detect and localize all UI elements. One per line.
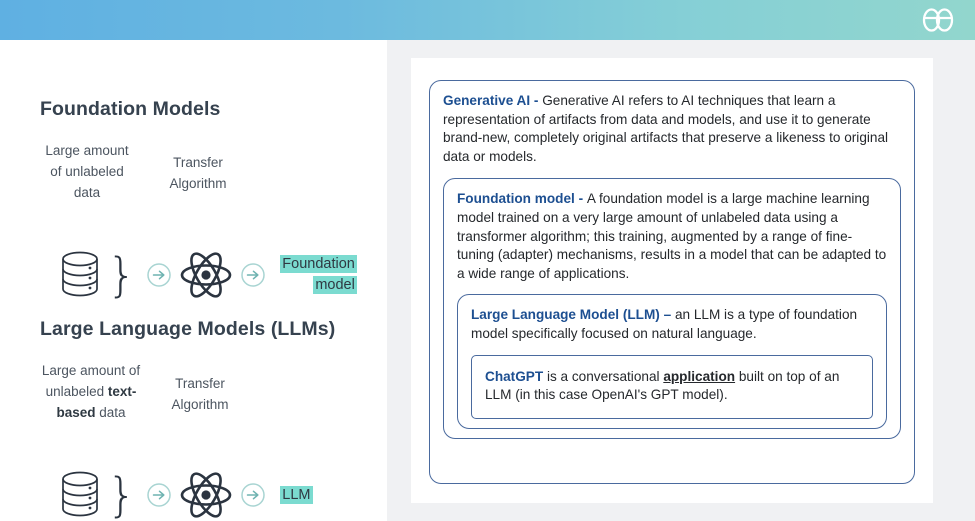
section-title-foundation-models: Foundation Models (40, 98, 220, 121)
pipeline-large-language-models: } LLM (58, 468, 313, 521)
definition-box-foundation-model: Foundation model - A foundation model is… (443, 178, 901, 438)
caption-line: Algorithm (150, 173, 246, 194)
output-label-line: model (313, 276, 357, 294)
definition-box-chatgpt: ChatGPT is a conversational application … (471, 355, 873, 419)
header-bar (0, 0, 975, 40)
circled-right-arrow-icon (240, 482, 266, 508)
atom-icon (179, 468, 233, 521)
definition-body-emphasis: application (663, 369, 735, 384)
definition-separator: - (575, 191, 587, 206)
output-label-foundation-model: Foundation model (280, 254, 357, 296)
caption-line: Large amount (22, 140, 152, 161)
caption-line: Transfer (150, 152, 246, 173)
caption-input-data-foundation: Large amount of unlabeled data (22, 140, 152, 203)
definition-text-chatgpt: ChatGPT is a conversational application … (485, 368, 859, 405)
circled-right-arrow-icon (146, 482, 172, 508)
output-label-llm: LLM (280, 485, 312, 506)
database-cylinder-icon (58, 469, 102, 521)
caption-line: of unlabeled (22, 161, 152, 182)
definition-separator: - (530, 93, 542, 108)
definition-term: Generative AI (443, 93, 530, 108)
caption-input-data-llm: Large amount ofunlabeled text-based data (22, 360, 160, 423)
definition-text-large-language-model: Large Language Model (LLM) – an LLM is a… (471, 306, 873, 343)
definition-box-large-language-model: Large Language Model (LLM) – an LLM is a… (457, 294, 887, 428)
definition-box-generative-ai: Generative AI - Generative AI refers to … (429, 80, 915, 484)
diagram-panel: Foundation Models Large amount of unlabe… (0, 40, 387, 521)
caption-line: data (22, 182, 152, 203)
definition-text-generative-ai: Generative AI - Generative AI refers to … (443, 92, 901, 166)
definition-term: ChatGPT (485, 369, 543, 384)
definition-term: Foundation model (457, 191, 575, 206)
caption-line: Transfer (152, 373, 248, 394)
caption-line: Algorithm (152, 394, 248, 415)
caption-transfer-algorithm-llm: Transfer Algorithm (152, 373, 248, 415)
definition-separator: – (660, 307, 675, 322)
slide-canvas: Foundation Models Large amount of unlabe… (0, 0, 975, 521)
caption-transfer-algorithm-foundation: Transfer Algorithm (150, 152, 246, 194)
definition-text-foundation-model: Foundation model - A foundation model is… (457, 190, 887, 283)
output-label-line: LLM (280, 486, 312, 504)
definitions-card: Generative AI - Generative AI refers to … (411, 58, 933, 503)
interlocking-loops-logo-icon (919, 7, 957, 33)
circled-right-arrow-icon (146, 262, 172, 288)
definitions-panel: Generative AI - Generative AI refers to … (387, 40, 975, 521)
pipeline-foundation-models: } Foundation model (58, 248, 357, 302)
circled-right-arrow-icon (240, 262, 266, 288)
section-title-large-language-models: Large Language Models (LLMs) (40, 318, 335, 341)
database-cylinder-icon (58, 249, 102, 301)
definition-term: Large Language Model (LLM) (471, 307, 660, 322)
atom-icon (179, 248, 233, 302)
output-label-line: Foundation (280, 255, 357, 273)
definition-body-pre: is a conversational (547, 369, 663, 384)
